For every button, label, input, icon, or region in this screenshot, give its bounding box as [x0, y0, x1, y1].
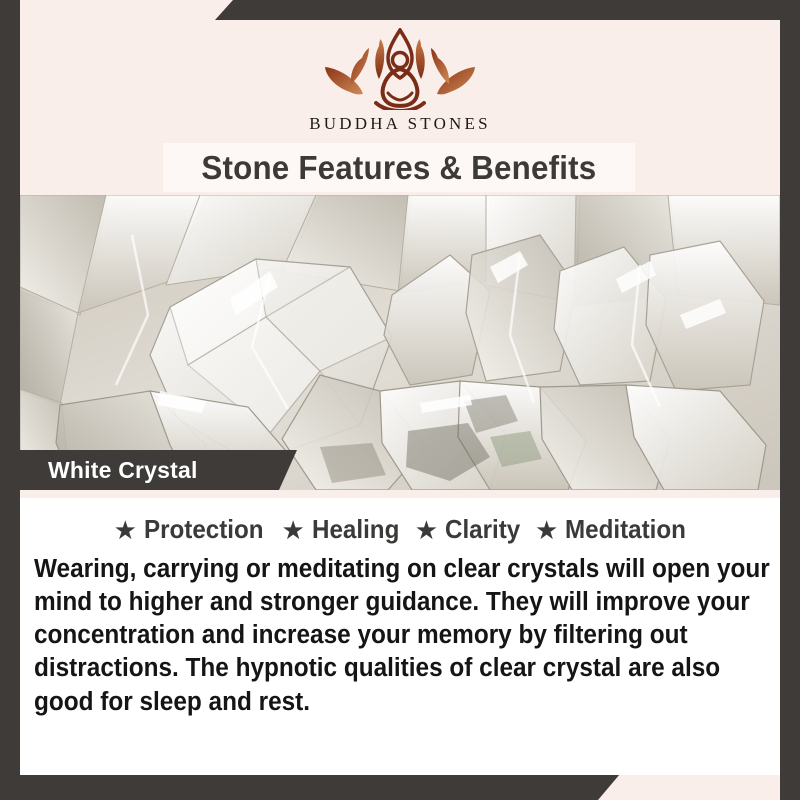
photo-caption-bar: White Crystal	[20, 450, 297, 490]
benefit-label: Meditation	[565, 514, 686, 545]
benefit-label: Healing	[312, 514, 399, 545]
benefit-item: ★ Clarity	[406, 514, 526, 545]
benefit-item: ★ Meditation	[526, 514, 695, 545]
lotus-meditation-figure-icon	[315, 28, 485, 110]
clear-quartz-crystal-cluster-image	[20, 195, 780, 490]
frame-top-bar	[215, 0, 800, 20]
product-photo: White Crystal	[20, 195, 780, 490]
page-title: Stone Features & Benefits	[202, 149, 597, 187]
infographic-card: BUDDHA STONES Stone Features & Benefits	[0, 0, 800, 800]
frame-left-bar	[0, 0, 20, 775]
title-band: Stone Features & Benefits	[163, 143, 635, 192]
benefit-item: ★ Protection	[105, 514, 273, 545]
benefit-label: Protection	[144, 514, 264, 545]
frame-bottom-bar	[0, 774, 620, 800]
star-icon: ★	[114, 517, 137, 543]
header: BUDDHA STONES Stone Features & Benefits	[20, 20, 780, 195]
benefit-item: ★ Healing	[273, 514, 406, 545]
star-icon: ★	[415, 517, 438, 543]
frame-right-bar	[780, 0, 800, 800]
content-panel: ★ Protection ★ Healing ★ Clarity ★ Medit…	[20, 498, 780, 775]
brand-logo: BUDDHA STONES	[20, 28, 780, 134]
benefit-label: Clarity	[445, 514, 520, 545]
star-icon: ★	[535, 517, 558, 543]
photo-underline	[20, 490, 780, 498]
star-icon: ★	[282, 517, 305, 543]
benefits-row: ★ Protection ★ Healing ★ Clarity ★ Medit…	[20, 498, 780, 545]
description-text: Wearing, carrying or meditating on clear…	[34, 553, 771, 719]
brand-name: BUDDHA STONES	[309, 114, 491, 134]
page-inner: BUDDHA STONES Stone Features & Benefits	[20, 20, 780, 775]
photo-caption-text: White Crystal	[48, 457, 198, 484]
